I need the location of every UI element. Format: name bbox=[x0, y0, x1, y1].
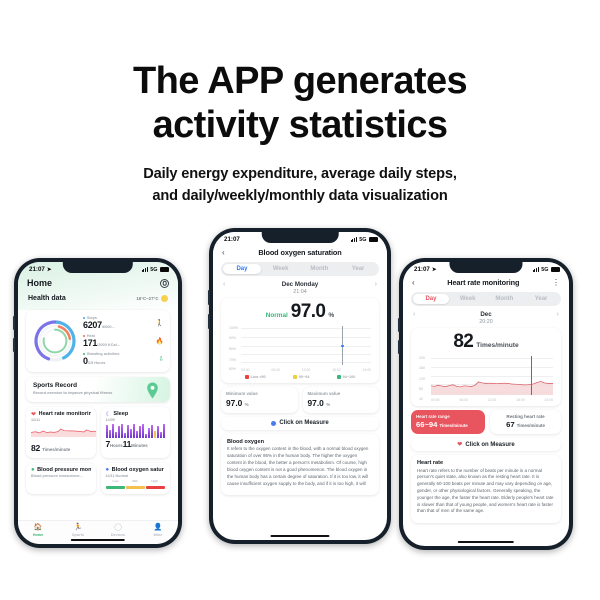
reading-value: 97.0 bbox=[291, 301, 326, 323]
subheadline: Daily energy expenditure, average daily … bbox=[0, 164, 600, 208]
tab-year[interactable]: Year bbox=[339, 264, 378, 275]
measure-button-label: Click on Measure bbox=[465, 442, 514, 448]
phone-center: 21:07 5G ‹ Blood oxygen saturation ‹ Day… bbox=[209, 228, 391, 544]
article-body: It refers to the oxygen content in the b… bbox=[227, 446, 373, 487]
location-arrow-icon: ➤ bbox=[432, 267, 437, 273]
reading-value: 82 bbox=[453, 331, 473, 353]
battery-icon bbox=[160, 267, 169, 272]
card-value: 66~94 Times/minute bbox=[416, 420, 480, 429]
card-blood-oxygen[interactable]: ● Blood oxygen satur 12/11 Normal LowMid… bbox=[101, 463, 171, 494]
network-label: 5G bbox=[359, 237, 366, 243]
health-stats-list: Steps 6207/6000... 🚶 Heat 171/2000 KCal.… bbox=[83, 316, 164, 366]
heart-rate-range-card: Heart rate range 66~94 Times/minute bbox=[411, 410, 485, 434]
stat-row-heat[interactable]: Heat 171/2000 KCal... 🔥 bbox=[83, 334, 164, 348]
subheadline-line-2: and daily/weekly/monthly data visualizat… bbox=[0, 186, 600, 208]
tab-day[interactable]: Day bbox=[413, 294, 450, 305]
date-selector: ‹ Dec › bbox=[403, 311, 569, 318]
notch bbox=[63, 262, 133, 273]
signal-bars-icon bbox=[142, 267, 148, 272]
sports-icon: 🏃 bbox=[58, 524, 98, 532]
period-tabs: Day Week Month Year bbox=[411, 292, 561, 306]
flame-icon: 🔥 bbox=[156, 337, 164, 345]
activity-rings bbox=[32, 318, 78, 364]
card-value: 7Hours11Minutes bbox=[106, 439, 166, 449]
sun-icon bbox=[161, 295, 168, 302]
home-icon: 🏠 bbox=[18, 524, 58, 532]
legend-item-mid: 90~94 bbox=[293, 375, 310, 379]
card-label: Minimum value bbox=[226, 391, 293, 397]
status-time: 21:07 bbox=[29, 266, 45, 273]
card-date: 12/11 bbox=[31, 418, 91, 422]
gear-icon[interactable] bbox=[160, 279, 169, 288]
signal-bars-icon bbox=[533, 267, 539, 272]
card-value: 82 Times/minute bbox=[31, 443, 91, 453]
phone-right-screen: 21:07 ➤ 5G ‹ Heart rate monitoring ⋮ Da bbox=[403, 262, 569, 546]
reading-time: 20:20 bbox=[403, 319, 569, 325]
tab-sports[interactable]: 🏃 Sports bbox=[58, 524, 98, 537]
headline-line-1: The APP generates bbox=[133, 60, 467, 102]
stat-row-standing[interactable]: Standing activities 0/15 Hours ⇩ bbox=[83, 352, 164, 366]
stat-row-steps[interactable]: Steps 6207/6000... 🚶 bbox=[83, 316, 164, 330]
card-title: Blood pressure mon bbox=[37, 467, 90, 473]
headline-block: The APP generates activity statistics Da… bbox=[0, 60, 600, 208]
article-title: Blood oxygen bbox=[227, 439, 373, 445]
chevron-left-icon[interactable]: ‹ bbox=[412, 278, 415, 287]
location-arrow-icon: ➤ bbox=[47, 267, 52, 273]
navbar: ‹ Heart rate monitoring ⋮ bbox=[403, 275, 569, 291]
period-tabs: Day Week Month Year bbox=[221, 262, 379, 276]
tab-devices[interactable]: ◯ Devices bbox=[98, 524, 138, 537]
steps-icon: 🚶 bbox=[156, 319, 164, 327]
heart-rate-area-series bbox=[431, 356, 553, 395]
chart-legend: Low <90 90~94 94~100 bbox=[221, 372, 379, 379]
card-value: 67 Times/minute bbox=[495, 420, 556, 429]
status-time: 21:07 bbox=[414, 266, 430, 273]
battery-icon bbox=[369, 237, 378, 242]
navbar: ‹ Blood oxygen saturation ‹ bbox=[213, 245, 387, 261]
reading-unit: % bbox=[328, 312, 334, 319]
card-value: 97.0 % bbox=[226, 398, 293, 408]
next-date-button[interactable]: › bbox=[375, 281, 377, 288]
promo-page: The APP generates activity statistics Da… bbox=[0, 0, 600, 600]
maximum-value-card: Maximum value 97.0 % bbox=[303, 387, 380, 413]
tab-week[interactable]: Week bbox=[449, 294, 486, 305]
heart-icon: ❤ bbox=[31, 411, 36, 418]
tab-month[interactable]: Month bbox=[300, 264, 339, 275]
spo2-chart-card: Normal 97.0 % 100% 90% 80% 70% 60% bbox=[221, 298, 379, 383]
chevron-left-icon[interactable]: ‹ bbox=[222, 248, 225, 257]
notch bbox=[449, 262, 522, 273]
phone-right: 21:07 ➤ 5G ‹ Heart rate monitoring ⋮ Da bbox=[399, 258, 573, 550]
phone-left-screen: 21:07 ➤ 5G Home Health data bbox=[18, 262, 178, 544]
battery-icon bbox=[551, 267, 560, 272]
home-navbar: Home bbox=[18, 275, 178, 292]
tab-mine[interactable]: 👤 Mine bbox=[138, 524, 178, 537]
chart-data-point bbox=[341, 345, 343, 347]
chart-cursor-line bbox=[531, 356, 532, 395]
health-summary-card[interactable]: Steps 6207/6000... 🚶 Heat 171/2000 KCal.… bbox=[26, 310, 170, 372]
sports-record-title: Sports Record bbox=[33, 382, 163, 389]
date-selector: ‹ Dec Monday › bbox=[213, 281, 387, 288]
x-axis: 00:00 06:00 12:00 18:00 24:00 bbox=[241, 368, 371, 372]
subheadline-line-1: Daily energy expenditure, average daily … bbox=[0, 164, 600, 186]
plot-area bbox=[241, 326, 371, 365]
notch bbox=[262, 232, 339, 243]
tab-year[interactable]: Year bbox=[523, 294, 560, 305]
current-date: Dec bbox=[480, 311, 491, 318]
temperature-text: 16°C~27°C bbox=[136, 296, 158, 301]
oxygen-scale-bar bbox=[106, 486, 166, 489]
tab-home[interactable]: 🏠 Home bbox=[18, 524, 58, 537]
tab-month[interactable]: Month bbox=[486, 294, 523, 305]
sleep-bars bbox=[106, 424, 166, 438]
y-axis: 100% 90% 80% 70% 60% bbox=[229, 326, 241, 372]
heart-rate-chart-card: 82 Times/minute 200 160 120 80 40 bbox=[411, 328, 561, 406]
y-axis: 200 160 120 80 40 bbox=[419, 356, 431, 402]
mini-card-row-2: ● Blood pressure mon Blood pressure meas… bbox=[26, 463, 170, 494]
page-title: Blood oxygen saturation bbox=[258, 248, 341, 257]
oxygen-scale-ticks: LowMidHigh bbox=[106, 479, 166, 483]
heart-rate-reading: 82 Times/minute bbox=[411, 328, 561, 354]
legend-item-low: Low <90 bbox=[245, 375, 266, 379]
activity-rings-svg bbox=[32, 318, 78, 364]
card-value: 97.0 % bbox=[308, 398, 375, 408]
o2-icon: ● bbox=[106, 467, 110, 473]
sports-record-subtitle: Record exercise to improve physical fitn… bbox=[33, 391, 163, 395]
card-title: Heart rate monitoring bbox=[39, 411, 91, 417]
page-title: Heart rate monitoring bbox=[447, 278, 519, 287]
standing-icon: ⇩ bbox=[159, 355, 164, 363]
moon-icon: ☾ bbox=[106, 411, 111, 418]
resting-heart-rate-card: Resting heart rate 67 Times/minute bbox=[490, 410, 561, 434]
card-label: Maximum value bbox=[308, 391, 375, 397]
spo2-chart: 100% 90% 80% 70% 60% bbox=[229, 326, 371, 372]
stat-value: 171/2000 KCal... bbox=[83, 338, 120, 348]
home-indicator bbox=[458, 541, 514, 543]
signal-bars-icon bbox=[351, 237, 357, 242]
prev-date-button[interactable]: ‹ bbox=[413, 311, 415, 318]
person-icon: 👤 bbox=[138, 524, 178, 532]
location-pin-icon bbox=[146, 382, 159, 399]
devices-icon: ◯ bbox=[98, 524, 138, 532]
card-date: 12/09 bbox=[106, 418, 166, 422]
heart-icon: ❤ bbox=[457, 441, 462, 448]
heart-rate-sparkline bbox=[31, 424, 96, 437]
blood-oxygen-article: Blood oxygen It refers to the oxygen con… bbox=[221, 434, 379, 495]
stat-value: 6207/6000... bbox=[83, 320, 115, 330]
mini-card-row-1: ❤ Heart rate monitoring 12/11 82 Times/m… bbox=[26, 407, 170, 459]
minimum-value-card: Minimum value 97.0 % bbox=[221, 387, 298, 413]
x-axis: 00:00 06:00 12:00 18:00 24:00 bbox=[431, 398, 553, 402]
card-subtitle: Blood pressure measureme... bbox=[31, 474, 91, 478]
card-title: Sleep bbox=[113, 411, 128, 417]
measure-button[interactable]: ❤ Click on Measure bbox=[411, 438, 561, 451]
article-title: Heart rate bbox=[417, 460, 555, 466]
measure-button[interactable]: Click on Measure bbox=[221, 417, 379, 430]
phone-center-screen: 21:07 5G ‹ Blood oxygen saturation ‹ Day… bbox=[213, 232, 387, 540]
network-label: 5G bbox=[541, 267, 548, 273]
article-body: Heart rate refers to the number of beats… bbox=[417, 468, 555, 516]
measure-dot-icon bbox=[271, 421, 276, 426]
next-date-button[interactable]: › bbox=[557, 311, 559, 318]
page-title: Home bbox=[27, 278, 52, 288]
card-title: Blood oxygen satur bbox=[112, 467, 164, 473]
page-title: The APP generates activity statistics bbox=[0, 60, 600, 147]
weather-readout: 16°C~27°C bbox=[136, 295, 168, 302]
card-label: Resting heart rate bbox=[495, 414, 556, 419]
health-data-header: Health data 16°C~27°C bbox=[18, 292, 178, 307]
card-heart-rate[interactable]: ❤ Heart rate monitoring 12/11 82 Times/m… bbox=[26, 407, 96, 459]
heart-rate-chart: 200 160 120 80 40 bbox=[419, 356, 553, 402]
card-sleep[interactable]: ☾ Sleep 12/09 7Hours11Minutes bbox=[101, 407, 171, 459]
reading-time: 21:04 bbox=[213, 289, 387, 295]
stat-value: 0/15 Hours bbox=[83, 356, 119, 366]
phone-left: 21:07 ➤ 5G Home Health data bbox=[14, 258, 182, 548]
bp-icon: ● bbox=[31, 467, 35, 473]
current-date: Dec Monday bbox=[282, 281, 318, 288]
plot-area bbox=[431, 356, 553, 395]
headline-line-2: activity statistics bbox=[0, 104, 600, 148]
status-badge: Normal bbox=[266, 312, 288, 319]
card-subtitle: 12/11 Normal bbox=[106, 474, 166, 478]
health-data-label: Health data bbox=[28, 295, 66, 302]
minmax-row: Minimum value 97.0 % Maximum value 97.0 … bbox=[213, 383, 387, 413]
sports-record-card[interactable]: Sports Record Record exercise to improve… bbox=[26, 377, 170, 402]
prev-date-button[interactable]: ‹ bbox=[223, 281, 225, 288]
card-label: Heart rate range bbox=[416, 414, 480, 419]
spo2-reading: Normal 97.0 % bbox=[221, 298, 379, 324]
reading-unit: Times/minute bbox=[476, 342, 518, 349]
card-blood-pressure[interactable]: ● Blood pressure mon Blood pressure meas… bbox=[26, 463, 96, 494]
heart-rate-summary-row: Heart rate range 66~94 Times/minute Rest… bbox=[403, 406, 569, 434]
legend-item-normal: 94~100 bbox=[337, 375, 356, 379]
tab-week[interactable]: Week bbox=[261, 264, 300, 275]
network-label: 5G bbox=[150, 267, 157, 273]
measure-button-label: Click on Measure bbox=[279, 420, 328, 426]
tab-day[interactable]: Day bbox=[223, 264, 262, 275]
heart-rate-article: Heart rate Heart rate refers to the numb… bbox=[411, 455, 561, 523]
home-indicator bbox=[270, 535, 329, 537]
status-time: 21:07 bbox=[224, 236, 240, 243]
more-vertical-icon[interactable]: ⋮ bbox=[552, 278, 560, 287]
